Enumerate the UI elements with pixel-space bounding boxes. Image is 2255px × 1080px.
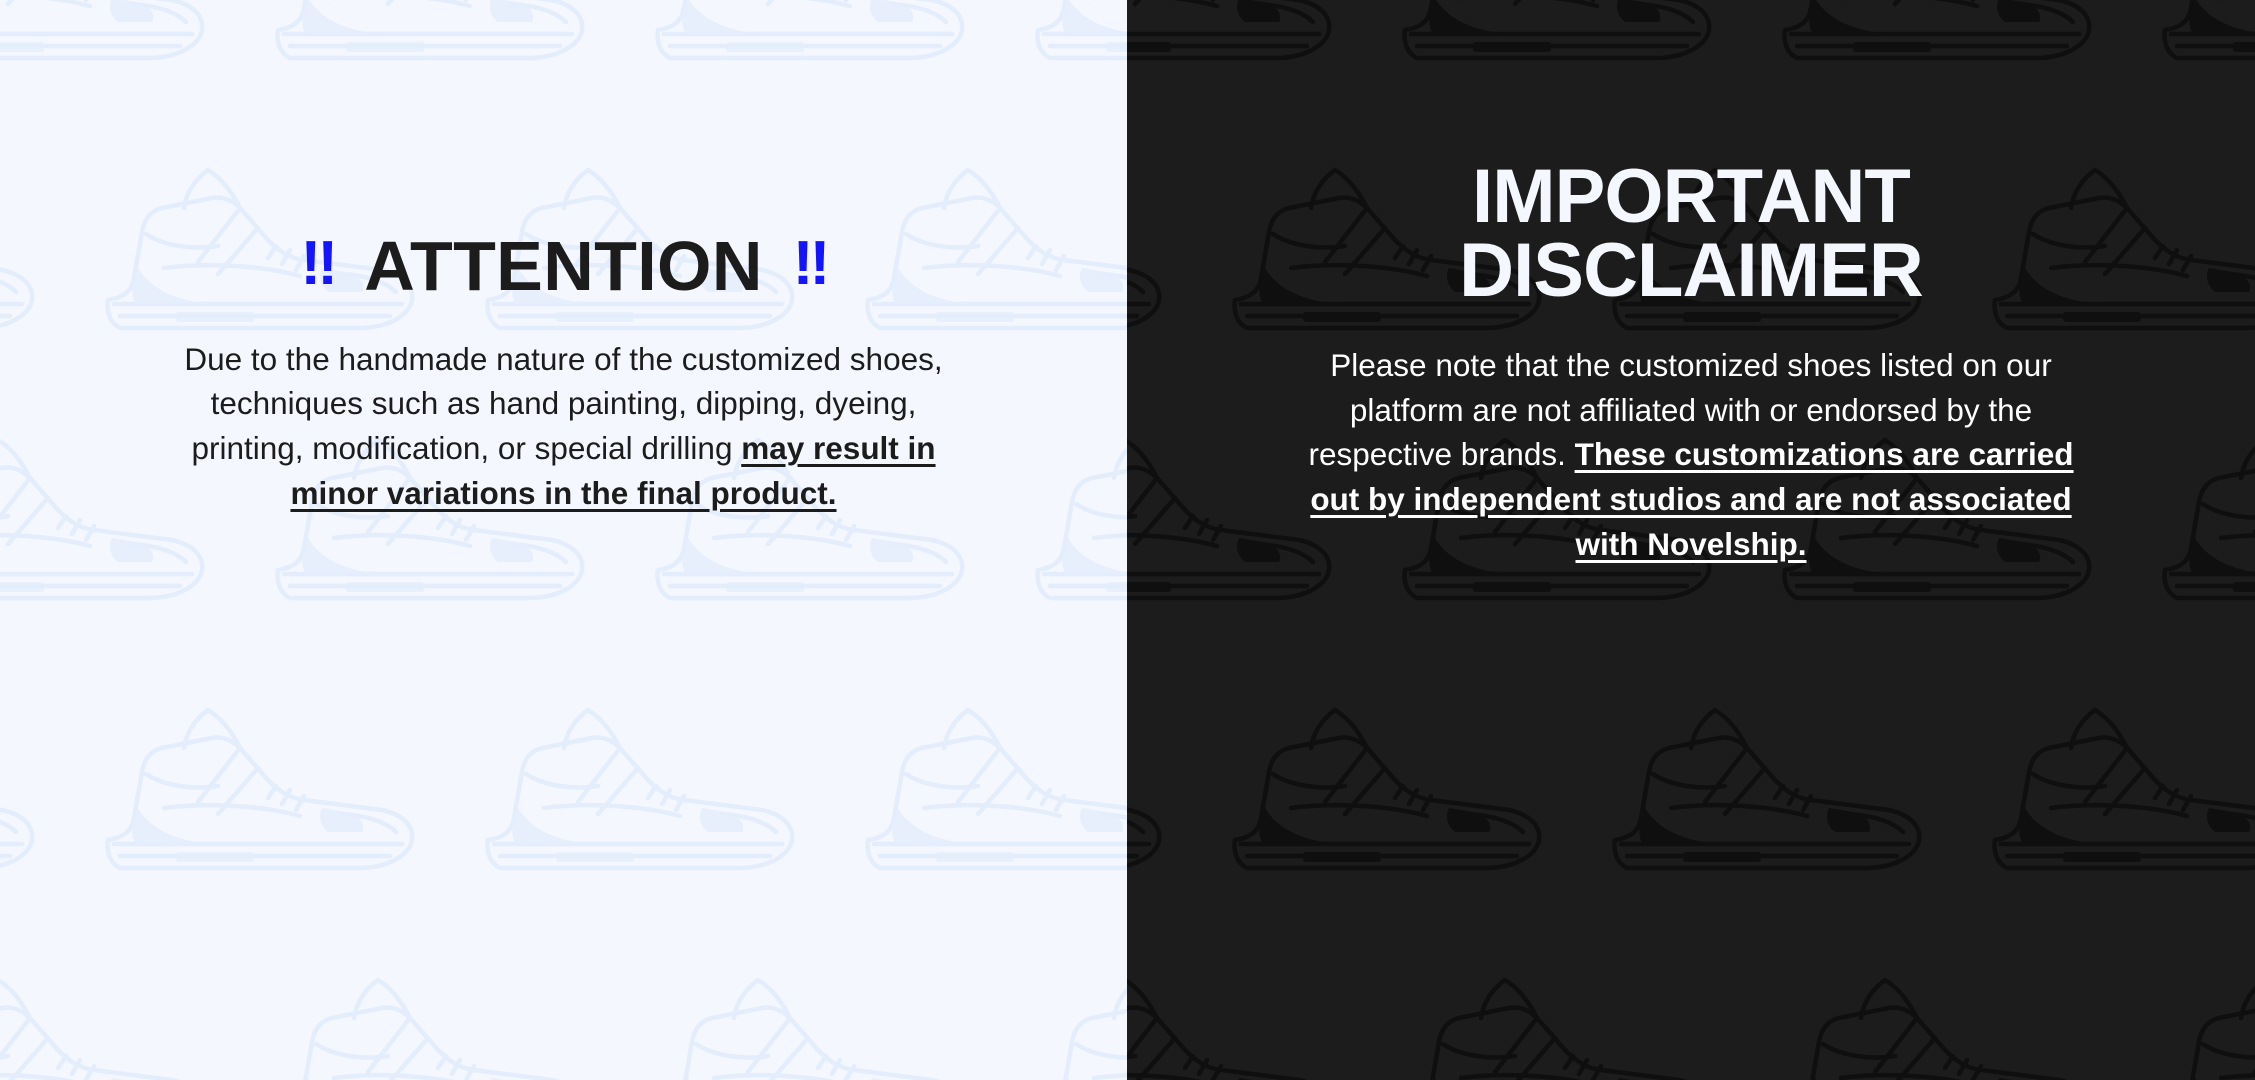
attention-headline: ‼ ATTENTION ‼ bbox=[301, 232, 827, 301]
disclaimer-body-text: Please note that the customized shoes li… bbox=[1296, 343, 2086, 567]
attention-content: ‼ ATTENTION ‼ Due to the handmade nature… bbox=[0, 0, 1127, 515]
double-exclamation-right-icon: ‼ bbox=[793, 234, 827, 295]
double-exclamation-left-icon: ‼ bbox=[301, 234, 335, 295]
disclaimer-headline-line1: IMPORTANT bbox=[1472, 154, 1910, 239]
attention-body-text: Due to the handmade nature of the custom… bbox=[174, 337, 954, 516]
disclaimer-content: IMPORTANT DISCLAIMER Please note that th… bbox=[1127, 0, 2255, 567]
disclaimer-headline: IMPORTANT DISCLAIMER bbox=[1459, 160, 1923, 309]
attention-panel: ‼ ATTENTION ‼ Due to the handmade nature… bbox=[0, 0, 1127, 1080]
attention-headline-word: ATTENTION bbox=[364, 232, 762, 301]
disclaimer-headline-line2: DISCLAIMER bbox=[1459, 234, 1923, 308]
dual-panel-banner: ‼ ATTENTION ‼ Due to the handmade nature… bbox=[0, 0, 2255, 1080]
disclaimer-panel: IMPORTANT DISCLAIMER Please note that th… bbox=[1127, 0, 2255, 1080]
